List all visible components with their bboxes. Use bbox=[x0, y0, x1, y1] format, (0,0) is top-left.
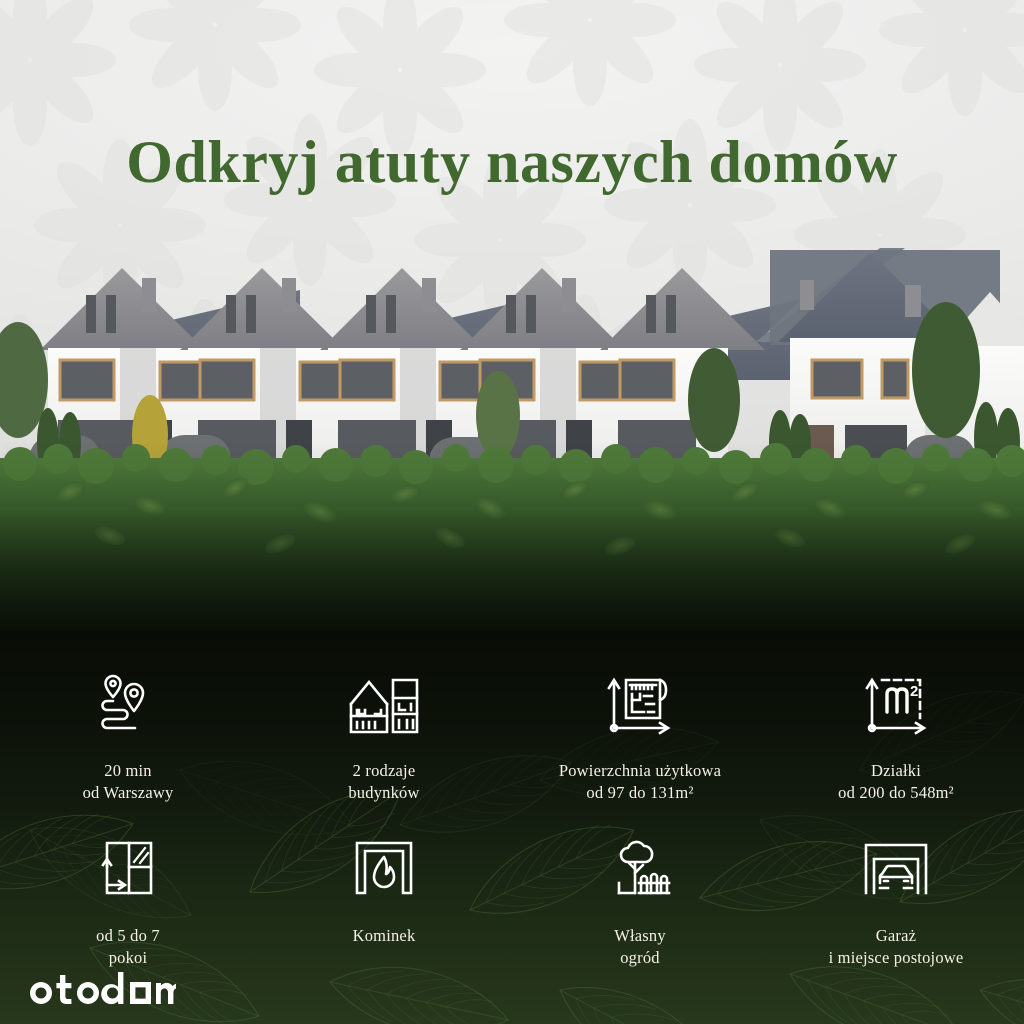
plot-square-meters-icon: 2 bbox=[857, 666, 935, 744]
otodam-wordmark bbox=[26, 972, 176, 1010]
page-title: Odkryj atuty naszych domów bbox=[0, 132, 1024, 192]
feature-item-plot-size: 2 Działki od 200 do 548m² bbox=[768, 660, 1024, 825]
feature-label: Powierzchnia użytkowa od 97 do 131m² bbox=[559, 760, 721, 804]
feature-label-line2: ogród bbox=[614, 947, 666, 969]
feature-label: 2 rodzaje budynków bbox=[348, 760, 419, 804]
feature-label-line1: Garaż bbox=[876, 926, 916, 945]
route-pins-icon bbox=[89, 666, 167, 744]
promo-poster: Odkryj atuty naszych domów bbox=[0, 0, 1024, 1024]
feature-item-distance: 20 min od Warszawy bbox=[0, 660, 256, 825]
feature-label-line1: 2 rodzaje bbox=[353, 761, 416, 780]
feature-item-fireplace: Kominek bbox=[256, 825, 512, 990]
fireplace-icon bbox=[345, 831, 423, 909]
floor-plan-area-icon bbox=[601, 666, 679, 744]
feature-label: Własny ogród bbox=[614, 925, 666, 969]
feature-label: 20 min od Warszawy bbox=[83, 760, 174, 804]
features-grid: 20 min od Warszawy bbox=[0, 660, 1024, 990]
feature-item-garden: Własny ogród bbox=[512, 825, 768, 990]
feature-label: Działki od 200 do 548m² bbox=[838, 760, 954, 804]
feature-label-line1: Działki bbox=[871, 761, 921, 780]
otodam-logo[interactable]: otodam bbox=[26, 974, 176, 1008]
feature-label-line1: 20 min bbox=[104, 761, 152, 780]
feature-label-line2: pokoi bbox=[96, 947, 160, 969]
rooms-plan-icon bbox=[89, 831, 167, 909]
feature-label-line2: od Warszawy bbox=[83, 782, 174, 804]
two-buildings-icon bbox=[345, 666, 423, 744]
feature-item-usable-area: Powierzchnia użytkowa od 97 do 131m² bbox=[512, 660, 768, 825]
feature-label-line1: Powierzchnia użytkowa bbox=[559, 761, 721, 780]
feature-label: od 5 do 7 pokoi bbox=[96, 925, 160, 969]
feature-label: Kominek bbox=[353, 925, 416, 947]
feature-label-line1: Kominek bbox=[353, 926, 416, 945]
feature-item-rooms: od 5 do 7 pokoi bbox=[0, 825, 256, 990]
feature-label-line1: Własny bbox=[614, 926, 666, 945]
feature-label-line1: od 5 do 7 bbox=[96, 926, 160, 945]
feature-label: Garaż i miejsce postojowe bbox=[829, 925, 964, 969]
svg-text:2: 2 bbox=[910, 683, 918, 700]
garage-car-icon bbox=[857, 831, 935, 909]
feature-item-garage: Garaż i miejsce postojowe bbox=[768, 825, 1024, 990]
feature-label-line2: budynków bbox=[348, 782, 419, 804]
feature-label-line2: i miejsce postojowe bbox=[829, 947, 964, 969]
feature-item-building-types: 2 rodzaje budynków bbox=[256, 660, 512, 825]
feature-label-line2: od 200 do 548m² bbox=[838, 782, 954, 804]
feature-label-line2: od 97 do 131m² bbox=[559, 782, 721, 804]
garden-tree-fence-icon bbox=[601, 831, 679, 909]
